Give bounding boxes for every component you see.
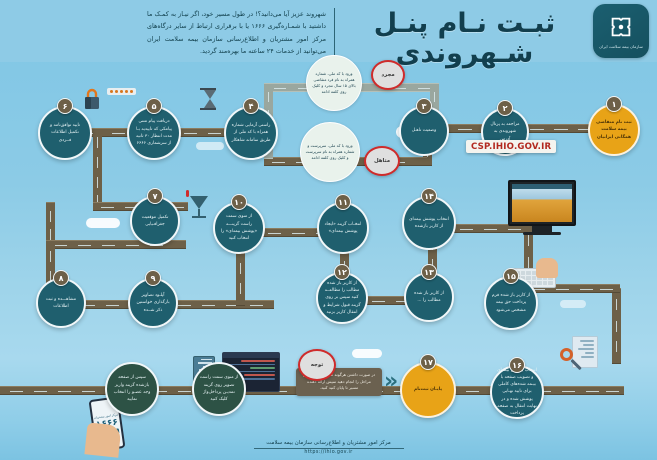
road-segment [93, 128, 102, 208]
info-bubble-married: ورود با کد ملی، سرپرست و شماره همراه به … [300, 122, 360, 182]
page-title: ثبـت نـام پنـل شـهروندی [342, 9, 587, 68]
step-badge-16: ۱۶ [509, 357, 525, 373]
code-window-titlebar [223, 353, 279, 358]
monitor-screen [512, 184, 572, 222]
step-node-11-text: انتخـاب گزینه «ایجاد پوشش بیمه‌ای» [319, 221, 367, 236]
hourglass-illustration [200, 88, 216, 110]
step-badge-4: ۴ [243, 98, 259, 114]
funnel-drop [186, 190, 189, 197]
logo-caption: سازمان بیمه سلامت ایران [599, 44, 643, 49]
cloud-decoration [196, 142, 224, 150]
step-node-14-text: انتخاب پوشش بیمه‌ای از کاربر بازشده [404, 216, 454, 231]
road-segment [612, 288, 621, 364]
step-badge-12: ۱۲ [334, 264, 350, 280]
step-badge-17: ۱۷ [420, 354, 436, 370]
footer-divider [254, 448, 404, 449]
arrow-glyph: « [384, 369, 398, 394]
step-badge-11: ۱۱ [335, 194, 351, 210]
step-node-4-text: راستی آزمایی شماره همراه با کد ملی از طر… [226, 122, 276, 144]
step-badge-15: ۱۵ [503, 268, 519, 284]
hand-holding-phone [84, 422, 121, 457]
step-badge-14: ۱۴ [421, 188, 437, 204]
funnel-stem [198, 209, 200, 216]
lock-icon [82, 88, 102, 110]
step-badge-7: ۷ [147, 188, 163, 204]
chip-married[interactable]: متاهل [364, 146, 400, 176]
step-node-green-left[interactable]: سپس از صفحه بازشده گزینه واریز وجه عضـو … [105, 362, 159, 416]
funnel-illustration [190, 196, 208, 218]
step-node-16[interactable]: انتخاب پوشش بیمه‌ای و تصویب صفحه با بیـم… [490, 365, 544, 419]
info-bubble-single: ورود با کد ملی، شماره همراه به نام فرد م… [306, 55, 362, 111]
step-node-16-text: انتخاب پوشش بیمه‌ای و تصویب صفحه با بیـم… [492, 367, 542, 418]
info-bubble-married-text: ورود با کد ملی، سرپرست و شماره همراه به … [301, 143, 359, 162]
step-node-14[interactable]: انتخاب پوشش بیمه‌ای از کاربر بازشده [402, 196, 456, 250]
step-node-10-text: از منوی سمت راست گزینـــه «پوشش بیمه‌ای»… [215, 213, 263, 242]
chip-notice[interactable]: توجه [298, 349, 336, 381]
chip-notice-label: توجه [311, 362, 324, 368]
step-node-green-right-text: از منوی سمت راست تصویر روی گزینه تمدیـن … [194, 374, 244, 403]
step-node-3-text: وضعیت تاهـل [407, 127, 442, 134]
step-badge-2: ۲ [497, 100, 513, 116]
step-badge-1: ۱ [606, 96, 622, 112]
step-badge-8: ۸ [53, 270, 69, 286]
code-line [236, 371, 275, 373]
hourglass-bottom [204, 99, 216, 108]
step-node-12-text: از کاربر باز شده مطالب را مطالعــه کنید … [318, 280, 366, 316]
step-node-5[interactable]: دریافت پیام متنی پیامکی که تاییدیه بـا م… [127, 106, 181, 160]
step-node-green-left-text: سپس از صفحه بازشده گزینه واریز وجه عضـو … [107, 374, 157, 403]
chip-single[interactable]: مجرد [371, 60, 405, 90]
intro-text: شهروند عزیز آیا می‌دانید؟! در طول مسیر خ… [147, 8, 326, 58]
code-line [230, 364, 275, 366]
step-node-15-text: از کاربر باز شده فرم پرداخت حق بیمه مشخص… [486, 292, 536, 314]
organization-logo: سازمان بیمه سلامت ایران [593, 4, 649, 58]
step-badge-3: ۳ [416, 98, 432, 114]
cloud-decoration [352, 349, 382, 358]
monitor-base [523, 232, 561, 235]
funnel-cone [190, 196, 208, 209]
step-node-17-text: پایـان ثبت‌نام [409, 386, 447, 393]
portal-url-plate[interactable]: CSP.IHIO.GOV.IR [466, 140, 556, 153]
step-node-5-text: دریافت پیام متنی پیامکی که تاییدیه بـا م… [129, 118, 179, 147]
chip-married-label: متاهل [374, 158, 390, 164]
code-line [250, 367, 275, 369]
step-node-9-text: آپلـود تصاویر بارگذاری خواستین ذکر شــده [130, 292, 176, 314]
cloud-decoration [86, 218, 120, 228]
step-node-6[interactable]: تایید توافق‌نامه و تکمیل اطلاعات فــردی [38, 106, 92, 160]
intro-block: شهروند عزیز آیا می‌دانید؟! در طول مسیر خ… [147, 8, 335, 58]
code-line [241, 360, 275, 362]
step-node-green-right[interactable]: از منوی سمت راست تصویر روی گزینه تمدیـن … [192, 362, 246, 416]
lock-password-illustration [82, 88, 102, 114]
step-node-4[interactable]: راستی آزمایی شماره همراه با کد ملی از طر… [224, 106, 278, 160]
hourglass-top [204, 90, 216, 99]
hand-illustration [536, 258, 558, 278]
step-node-7-text: تکمیل موقعیت جغرافـیایی [132, 214, 178, 229]
back-arrows-icon: « [384, 371, 398, 393]
step-node-6-text: تایید توافق‌نامه و تکمیل اطلاعات فــردی [40, 122, 90, 144]
magnifier-illustration [560, 348, 573, 373]
step-badge-6: ۶ [57, 98, 73, 114]
step-node-13-text: از کاربر باز شده مطالب را ... [406, 290, 452, 305]
monitor-illustration [508, 180, 576, 235]
infographic-poster: سازمان بیمه سلامت ایران ثبـت نـام پنـل ش… [0, 0, 657, 460]
step-node-17[interactable]: پایـان ثبت‌نام [400, 362, 456, 418]
chip-single-label: مجرد [381, 72, 394, 78]
code-line [244, 374, 275, 376]
step-badge-9: ۹ [145, 270, 161, 286]
step-badge-5: ۵ [146, 98, 162, 114]
step-node-1-text: ثبت نام متقاضی بیمه سلامت همگانی ایرانیا… [590, 119, 638, 141]
ihio-logo-icon [607, 13, 635, 41]
password-dots [107, 88, 136, 95]
step-badge-10: ۱۰ [231, 194, 247, 210]
funnel-base [192, 216, 206, 218]
step-node-8-text: مشاهـــده و ثبت اطلاعات [38, 296, 84, 311]
monitor-frame [508, 180, 576, 226]
info-bubble-single-text: ورود با کد ملی، شماره همراه به نام فرد م… [307, 71, 361, 96]
step-badge-13: ۱۳ [421, 264, 437, 280]
hourglass-cap-bottom [200, 108, 216, 110]
step-node-15[interactable]: از کاربر باز شده فرم پرداخت حق بیمه مشخص… [484, 276, 538, 330]
monitor-titlebar [512, 184, 572, 189]
cloud-decoration [560, 300, 586, 308]
